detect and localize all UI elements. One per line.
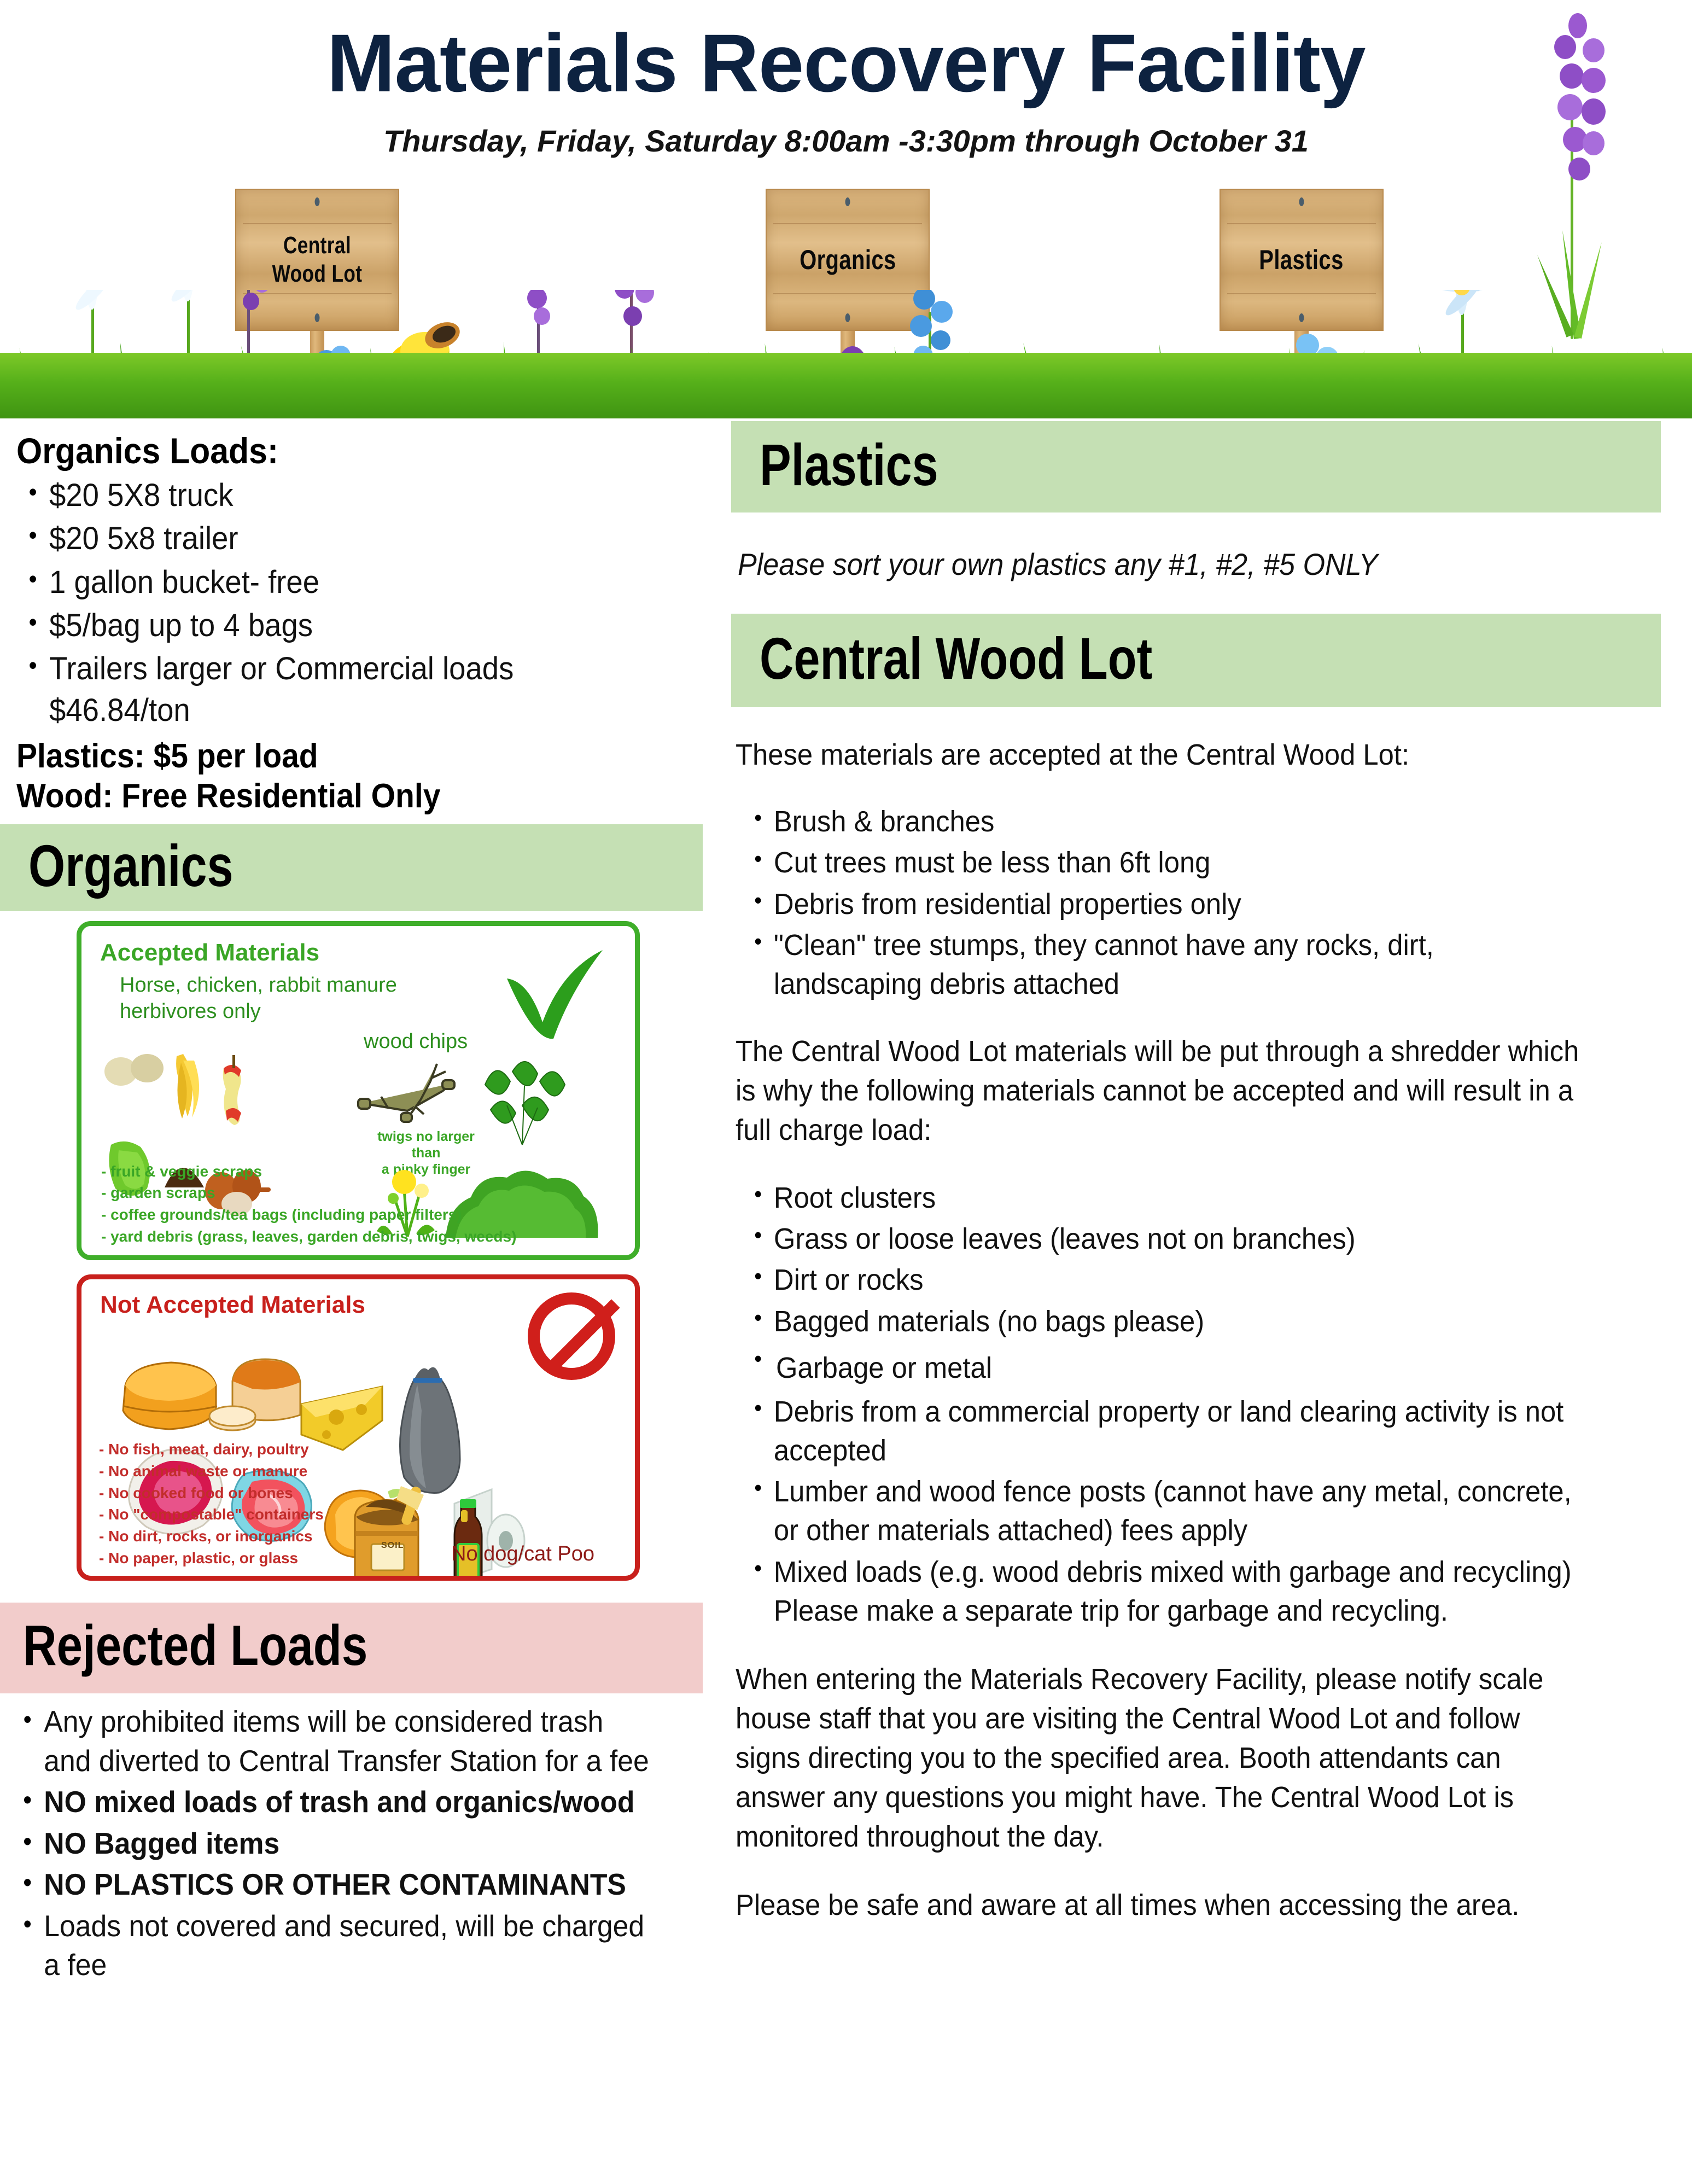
leaves-icon <box>472 1053 576 1146</box>
not-accepted-materials-card: Not Accepted Materials <box>77 1274 640 1581</box>
bottle-icon <box>445 1498 494 1581</box>
rejected-loads-band: Rejected Loads <box>0 1603 703 1694</box>
list-item: NO mixed loads of trash and organics/woo… <box>12 1783 650 1822</box>
list-item: - garden scraps <box>101 1182 516 1204</box>
list-item: $5/bag up to 4 bags <box>15 605 664 646</box>
list-item: Bagged materials (no bags please) <box>739 1302 1582 1341</box>
list-item: Grass or loose leaves (leaves not on bra… <box>739 1220 1582 1259</box>
right-column: Plastics Please sort your own plastics a… <box>731 421 1661 1925</box>
list-item: - yard debris (grass, leaves, garden deb… <box>101 1226 516 1248</box>
list-item: Lumber and wood fence posts (cannot have… <box>739 1472 1582 1551</box>
woodlot-accepted-list: Brush & branches Cut trees must be less … <box>739 802 1636 1004</box>
central-wood-lot-band-label: Central Wood Lot <box>760 625 1480 692</box>
organics-band-label: Organics <box>28 832 568 899</box>
list-item: Any prohibited items will be considered … <box>12 1702 650 1780</box>
list-item: Debris from a commercial property or lan… <box>739 1393 1582 1471</box>
plastics-band-label: Plastics <box>760 431 1480 498</box>
accepted-card-title: Accepted Materials <box>100 939 319 966</box>
list-item: Mixed loads (e.g. wood debris mixed with… <box>739 1553 1582 1631</box>
list-item: - No paper, plastic, or glass <box>99 1547 324 1569</box>
checkmark-icon <box>496 940 616 1044</box>
list-item: Dirt or rocks <box>739 1261 1582 1300</box>
organics-loads-list: $20 5X8 truck $20 5x8 trailer 1 gallon b… <box>15 475 705 731</box>
wood-price: Wood: Free Residential Only <box>16 776 650 816</box>
list-item: - coffee grounds/tea bags (including pap… <box>101 1204 516 1226</box>
wood-chips-label: wood chips <box>364 1030 468 1053</box>
list-item: $20 5x8 trailer <box>15 518 664 559</box>
list-item: Loads not covered and secured, will be c… <box>12 1907 650 1985</box>
accepted-intro: These materials are accepted at the Cent… <box>736 736 1605 775</box>
list-item: Root clusters <box>739 1179 1582 1218</box>
list-item: Debris from residential properties only <box>739 885 1582 924</box>
twigs-icon <box>355 1056 464 1133</box>
list-item: - No dirt, rocks, or inorganics <box>99 1525 324 1547</box>
plastics-price: Plastics: $5 per load <box>16 736 650 776</box>
list-item: Cut trees must be less than 6ft long <box>739 843 1582 882</box>
no-dog-cat-poo-note: No dog/cat Poo <box>451 1542 594 1566</box>
list-item: "Clean" tree stumps, they cannot have an… <box>739 926 1582 1004</box>
list-item: $20 5X8 truck <box>15 475 664 516</box>
list-item: Brush & branches <box>739 802 1582 841</box>
rejected-loads-label: Rejected Loads <box>23 1614 580 1679</box>
left-column: Organics Loads: $20 5X8 truck $20 5x8 tr… <box>0 421 705 1987</box>
list-item: - No cooked food or bones <box>99 1482 324 1504</box>
organics-band: Organics <box>0 824 703 911</box>
organics-graphics: Accepted Materials Horse, chicken, rabbi… <box>77 921 640 1581</box>
no-entry-icon <box>528 1292 615 1380</box>
hours-subtitle: Thursday, Friday, Saturday 8:00am -3:30p… <box>0 123 1692 159</box>
rejected-loads-list: Any prohibited items will be considered … <box>12 1702 690 1985</box>
list-item: - No "compostable" containers <box>99 1504 324 1525</box>
woodlot-rejected-list: Root clusters Grass or loose leaves (lea… <box>739 1179 1636 1341</box>
organics-loads-title: Organics Loads: <box>16 431 650 471</box>
soil-bag-label: SOIL <box>381 1541 404 1551</box>
closing-paragraph: When entering the Materials Recovery Fac… <box>736 1660 1589 1856</box>
list-item: NO PLASTICS OR OTHER CONTAMINANTS <box>12 1865 650 1905</box>
accepted-card-subtitle: Horse, chicken, rabbit manure herbivores… <box>120 972 397 1025</box>
list-item: - fruit & veggie scraps <box>101 1161 516 1183</box>
not-accepted-card-title: Not Accepted Materials <box>100 1291 365 1319</box>
garbage-or-metal-text: Garbage or metal <box>776 1349 1608 1388</box>
shredder-paragraph: The Central Wood Lot materials will be p… <box>736 1032 1589 1150</box>
accepted-materials-card: Accepted Materials Horse, chicken, rabbi… <box>77 921 640 1260</box>
accepted-bullets: - fruit & veggie scraps - garden scraps … <box>101 1161 516 1248</box>
page-title: Materials Recovery Facility <box>0 22 1692 104</box>
list-item: - No fish, meat, dairy, poultry <box>99 1438 324 1460</box>
woodlot-rejected-list-cont: Debris from a commercial property or lan… <box>739 1393 1636 1631</box>
grass-flower-strip <box>0 290 1692 418</box>
plastics-band: Plastics <box>731 421 1661 512</box>
list-item: Trailers larger or Commercial loads $46.… <box>15 648 622 731</box>
sign-label: Organics <box>800 244 896 276</box>
plastics-sorting-note: Please sort your own plastics any #1, #2… <box>738 546 1596 582</box>
list-item: 1 gallon bucket- free <box>15 562 664 603</box>
safety-note: Please be safe and aware at all times wh… <box>736 1886 1589 1925</box>
central-wood-lot-band: Central Wood Lot <box>731 614 1661 707</box>
not-accepted-bullets: - No fish, meat, dairy, poultry - No ani… <box>99 1438 324 1569</box>
flyer-page: Materials Recovery Facility Thursday, Fr… <box>0 0 1692 2184</box>
sign-label: CentralWood Lot <box>272 231 363 288</box>
soil-bag-icon <box>337 1483 436 1581</box>
list-item: NO Bagged items <box>12 1824 650 1863</box>
header-banner: Materials Recovery Facility Thursday, Fr… <box>0 0 1692 421</box>
list-item: - No animal waste or manure <box>99 1460 324 1482</box>
sign-label: Plastics <box>1259 244 1344 276</box>
